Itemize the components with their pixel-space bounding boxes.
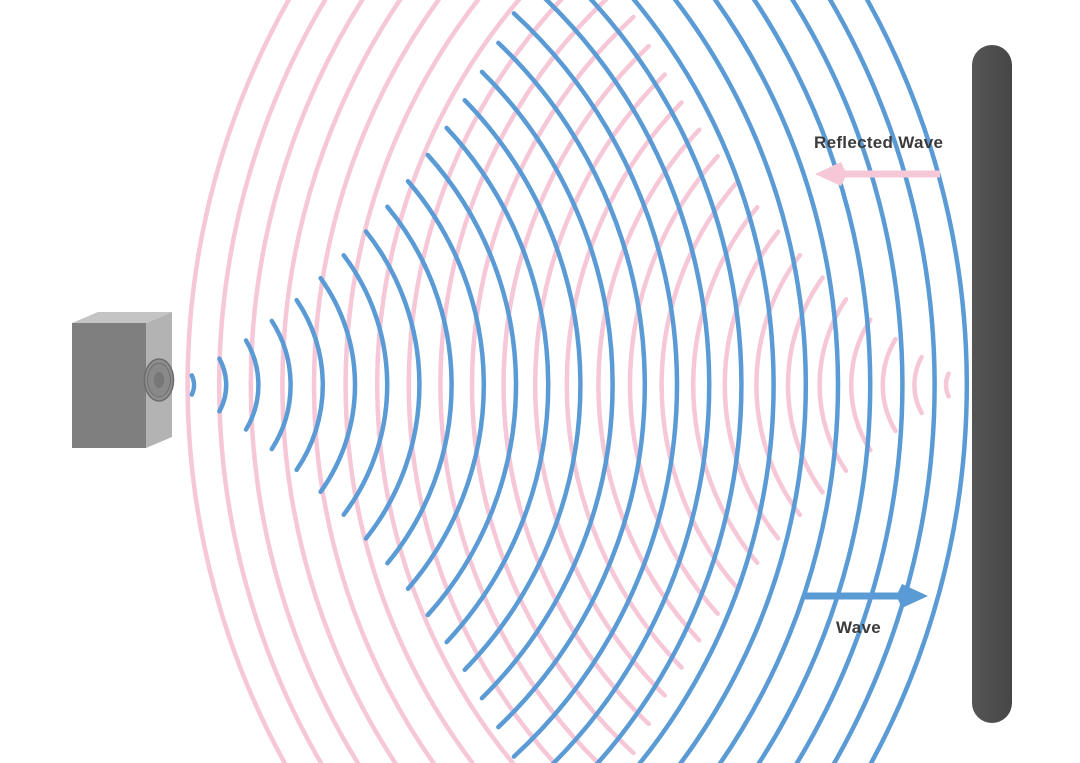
- incident-arrow-head: [896, 584, 928, 608]
- wavefront-arc: [529, 0, 710, 763]
- wall-body: [972, 45, 1012, 723]
- wavefront-arc: [504, 46, 649, 724]
- wavefront-arc: [883, 339, 896, 431]
- wavefront-arc: [192, 375, 194, 394]
- reflected-wave-label: Reflected Wave: [814, 133, 943, 153]
- wavefront-arc: [756, 255, 800, 515]
- speaker-cone-center: [154, 372, 164, 388]
- wave-reflection-scene: [0, 0, 1080, 763]
- wavefront-arc: [366, 231, 419, 538]
- wavefront-arc: [946, 374, 949, 397]
- diagram-canvas: Reflected Wave Wave: [0, 0, 1080, 763]
- reflected-arrow-head: [815, 162, 847, 186]
- wavefront-arc: [472, 17, 633, 753]
- reflected-wavefront-arcs: [188, 0, 949, 763]
- speaker-front-face: [72, 323, 146, 448]
- wavefront-arc: [219, 0, 541, 763]
- wavefront-arc: [914, 357, 921, 413]
- reflecting-wall: [972, 45, 1012, 723]
- loudspeaker: [72, 312, 174, 448]
- wave-label: Wave: [836, 618, 881, 638]
- incident-wave-arrow: [803, 584, 928, 608]
- wavefront-arc: [514, 13, 677, 756]
- reflected-wave-arrow: [815, 162, 940, 186]
- wavefront-arc: [820, 299, 846, 471]
